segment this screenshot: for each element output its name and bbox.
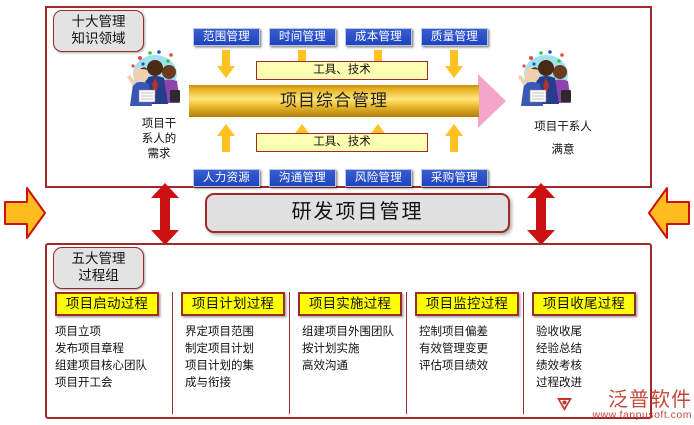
knowledge-button-time[interactable]: 时间管理 <box>269 28 336 46</box>
knowledge-button-risk[interactable]: 风险管理 <box>345 169 412 187</box>
pink-arrowhead-icon <box>478 74 506 128</box>
knowledge-button-communication[interactable]: 沟通管理 <box>269 169 336 187</box>
process-item: 组建项目外围团队 <box>298 324 404 341</box>
arrow-down-icon <box>217 50 235 78</box>
process-column-initiating: 项目启动过程 项目立项 发布项目章程 组建项目核心团队 项目开工会 <box>55 292 172 414</box>
arrow-down-icon <box>445 50 463 78</box>
process-item: 成与衔接 <box>181 375 287 392</box>
process-item: 高效沟通 <box>298 358 404 375</box>
process-item: 界定项目范围 <box>181 324 287 341</box>
process-column-header[interactable]: 项目监控过程 <box>415 292 519 316</box>
right-caption-line2: 满意 <box>515 143 611 158</box>
left-caption-line2: 系人的 <box>131 132 187 147</box>
stakeholders-group-icon <box>124 48 184 106</box>
arrow-left-icon <box>647 185 691 241</box>
left-caption-line3: 需求 <box>131 147 187 162</box>
knowledge-button-procurement[interactable]: 采购管理 <box>421 169 488 187</box>
knowledge-tag-line2: 知识领域 <box>54 31 143 48</box>
integration-management-bar: 项目综合管理 <box>189 85 479 117</box>
process-column-header[interactable]: 项目收尾过程 <box>532 292 636 316</box>
process-item: 控制项目偏差 <box>415 324 521 341</box>
process-item: 有效管理变更 <box>415 341 521 358</box>
left-stakeholder-caption: 项目干 系人的 需求 <box>131 117 187 162</box>
knowledge-areas-tag: 十大管理 知识领域 <box>53 10 144 52</box>
process-column-header[interactable]: 项目实施过程 <box>298 292 402 316</box>
process-item: 验收收尾 <box>532 324 638 341</box>
process-item: 评估项目绩效 <box>415 358 521 375</box>
process-column-closing: 项目收尾过程 验收收尾 经验总结 绩效考核 过程改进 <box>523 292 640 414</box>
process-item: 发布项目章程 <box>55 341 170 358</box>
stakeholders-group-icon <box>515 48 575 106</box>
process-column-executing: 项目实施过程 组建项目外围团队 按计划实施 高效沟通 <box>289 292 406 414</box>
left-caption-line1: 项目干 <box>131 117 187 132</box>
arrow-up-icon <box>445 124 463 152</box>
right-stakeholder-caption: 项目干系人 满意 <box>515 120 611 158</box>
tools-techniques-bar-top: 工具、技术 <box>256 61 428 80</box>
process-item: 组建项目核心团队 <box>55 358 170 375</box>
process-item: 项目立项 <box>55 324 170 341</box>
process-item: 绩效考核 <box>532 358 638 375</box>
process-tag-line1: 五大管理 <box>54 251 143 268</box>
knowledge-tag-line1: 十大管理 <box>54 14 143 31</box>
process-item: 经验总结 <box>532 341 638 358</box>
knowledge-button-scope[interactable]: 范围管理 <box>193 28 260 46</box>
process-item: 制定项目计划 <box>181 341 287 358</box>
double-arrow-vertical-icon <box>527 183 555 245</box>
fanpu-logo-icon <box>556 395 573 412</box>
arrow-right-icon <box>3 185 47 241</box>
process-column-header[interactable]: 项目计划过程 <box>181 292 285 316</box>
arrow-up-icon <box>217 124 235 152</box>
tools-techniques-bar-bottom: 工具、技术 <box>256 133 428 152</box>
double-arrow-vertical-icon <box>151 183 179 245</box>
process-groups-tag: 五大管理 过程组 <box>53 247 144 289</box>
page-title: 研发项目管理 <box>205 193 510 233</box>
process-item: 项目开工会 <box>55 375 170 392</box>
process-item: 过程改进 <box>532 375 638 392</box>
process-groups-columns: 项目启动过程 项目立项 发布项目章程 组建项目核心团队 项目开工会 项目计划过程… <box>55 292 643 414</box>
knowledge-button-hr[interactable]: 人力资源 <box>193 169 260 187</box>
knowledge-button-quality[interactable]: 质量管理 <box>421 28 488 46</box>
process-column-planning: 项目计划过程 界定项目范围 制定项目计划 项目计划的集 成与衔接 <box>172 292 289 414</box>
diagram-root: 范围管理 时间管理 成本管理 质量管理 工具、技术 项目综合管理 工具、技术 人… <box>0 0 694 425</box>
right-caption-line1: 项目干系人 <box>515 120 611 135</box>
process-item: 项目计划的集 <box>181 358 287 375</box>
process-item: 按计划实施 <box>298 341 404 358</box>
knowledge-button-cost[interactable]: 成本管理 <box>345 28 412 46</box>
process-column-header[interactable]: 项目启动过程 <box>55 292 159 316</box>
process-column-monitoring: 项目监控过程 控制项目偏差 有效管理变更 评估项目绩效 <box>406 292 523 414</box>
process-tag-line2: 过程组 <box>54 268 143 285</box>
